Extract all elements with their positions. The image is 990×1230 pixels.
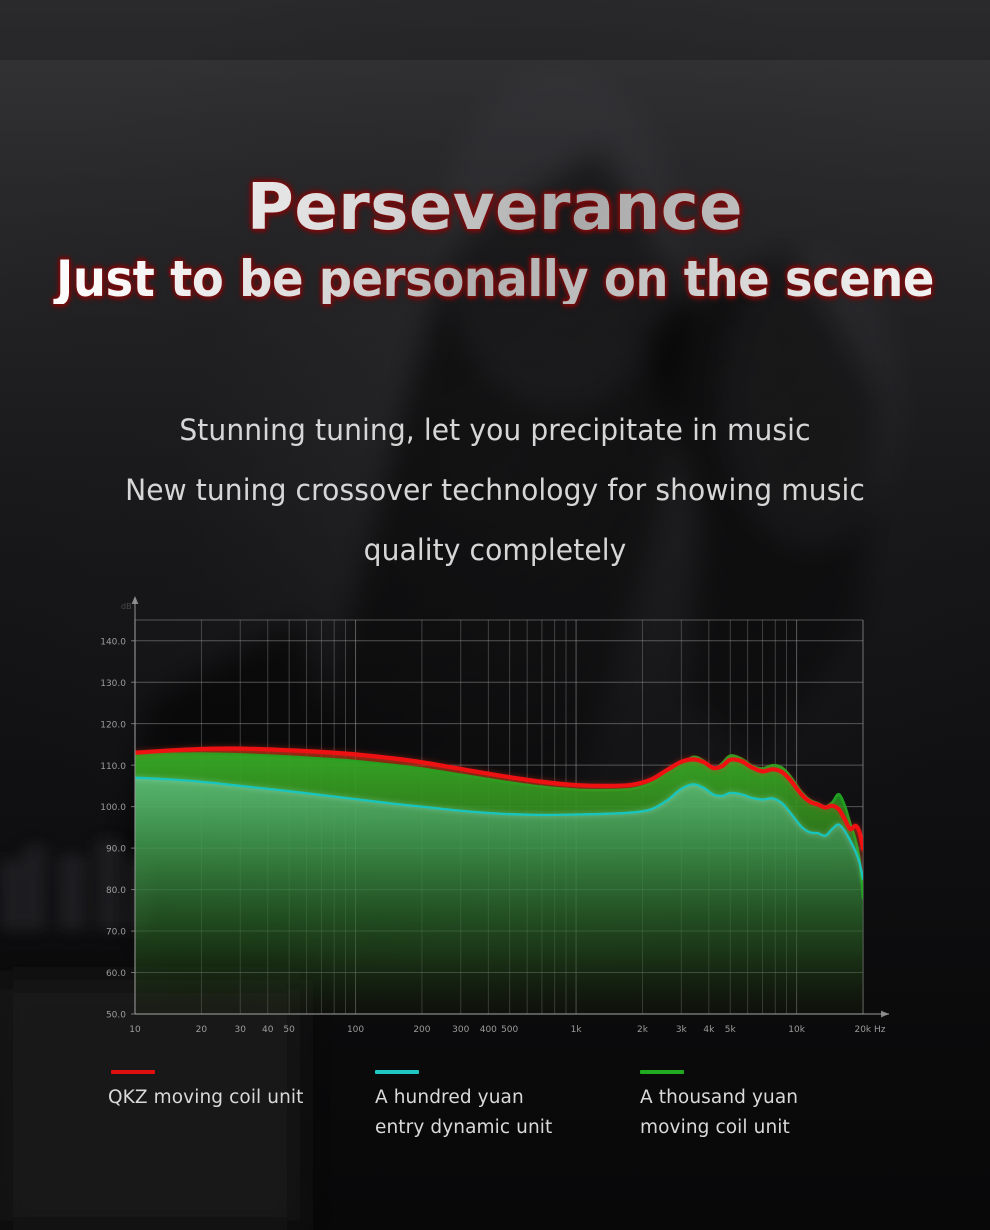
tagline-line-3: quality completely (15, 520, 975, 580)
legend-item-thousand-yuan: A thousand yuan moving coil unit (640, 1070, 798, 1143)
svg-text:200: 200 (413, 1025, 430, 1035)
svg-text:100: 100 (347, 1025, 364, 1035)
svg-text:500: 500 (501, 1025, 518, 1035)
svg-text:130.0: 130.0 (100, 679, 126, 689)
tagline-block: Stunning tuning, let you precipitate in … (15, 400, 975, 580)
svg-text:dB: dB (121, 602, 132, 611)
svg-text:2k: 2k (637, 1025, 649, 1035)
headline-block: Perseverance Just to be personally on th… (0, 176, 990, 304)
svg-text:10: 10 (129, 1025, 141, 1035)
svg-text:40: 40 (262, 1025, 274, 1035)
svg-text:20: 20 (196, 1025, 208, 1035)
legend-label-thousand-yuan: A thousand yuan moving coil unit (640, 1087, 798, 1138)
legend-label-qkz: QKZ moving coil unit (108, 1087, 304, 1108)
chart-y-tick-labels: 140.0130.0120.0110.0100.090.080.070.060.… (100, 637, 126, 1020)
svg-text:400: 400 (480, 1025, 497, 1035)
svg-text:30: 30 (234, 1025, 246, 1035)
page-subtitle: Just to be personally on the scene (35, 254, 956, 304)
svg-text:20k Hz: 20k Hz (854, 1025, 885, 1035)
tagline-line-2: New tuning crossover technology for show… (15, 460, 975, 520)
legend-label-hundred-yuan: A hundred yuan entry dynamic unit (375, 1087, 552, 1138)
svg-text:140.0: 140.0 (100, 637, 126, 647)
chart-unit-labels: dB (121, 602, 132, 611)
svg-text:4k: 4k (703, 1025, 715, 1035)
legend-swatch-cyan (375, 1070, 419, 1074)
legend-item-hundred-yuan: A hundred yuan entry dynamic unit (375, 1070, 552, 1143)
svg-text:5k: 5k (725, 1025, 737, 1035)
svg-text:60.0: 60.0 (106, 969, 126, 979)
chart-legend: QKZ moving coil unit A hundred yuan entr… (0, 1068, 990, 1188)
legend-item-qkz: QKZ moving coil unit (110, 1070, 304, 1113)
svg-text:120.0: 120.0 (100, 720, 126, 730)
svg-text:100.0: 100.0 (100, 803, 126, 813)
svg-text:50.0: 50.0 (106, 1011, 126, 1021)
svg-text:10k: 10k (788, 1025, 805, 1035)
svg-text:3k: 3k (676, 1025, 688, 1035)
svg-text:300: 300 (452, 1025, 469, 1035)
legend-swatch-green (640, 1070, 684, 1074)
legend-swatch-red (111, 1070, 155, 1074)
svg-text:50: 50 (283, 1025, 295, 1035)
promo-page: Perseverance Just to be personally on th… (0, 0, 990, 1230)
tagline-line-1: Stunning tuning, let you precipitate in … (15, 400, 975, 460)
svg-text:1k: 1k (571, 1025, 583, 1035)
svg-text:90.0: 90.0 (106, 845, 126, 855)
svg-text:80.0: 80.0 (106, 886, 126, 896)
page-title: Perseverance (0, 176, 990, 240)
frequency-response-chart: 140.0130.0120.0110.0100.090.080.070.060.… (0, 590, 990, 1060)
svg-text:110.0: 110.0 (100, 762, 126, 772)
chart-x-tick-labels: 10203040501002003004005001k2k3k4k5k10k20… (129, 1025, 886, 1035)
svg-text:70.0: 70.0 (106, 928, 126, 938)
